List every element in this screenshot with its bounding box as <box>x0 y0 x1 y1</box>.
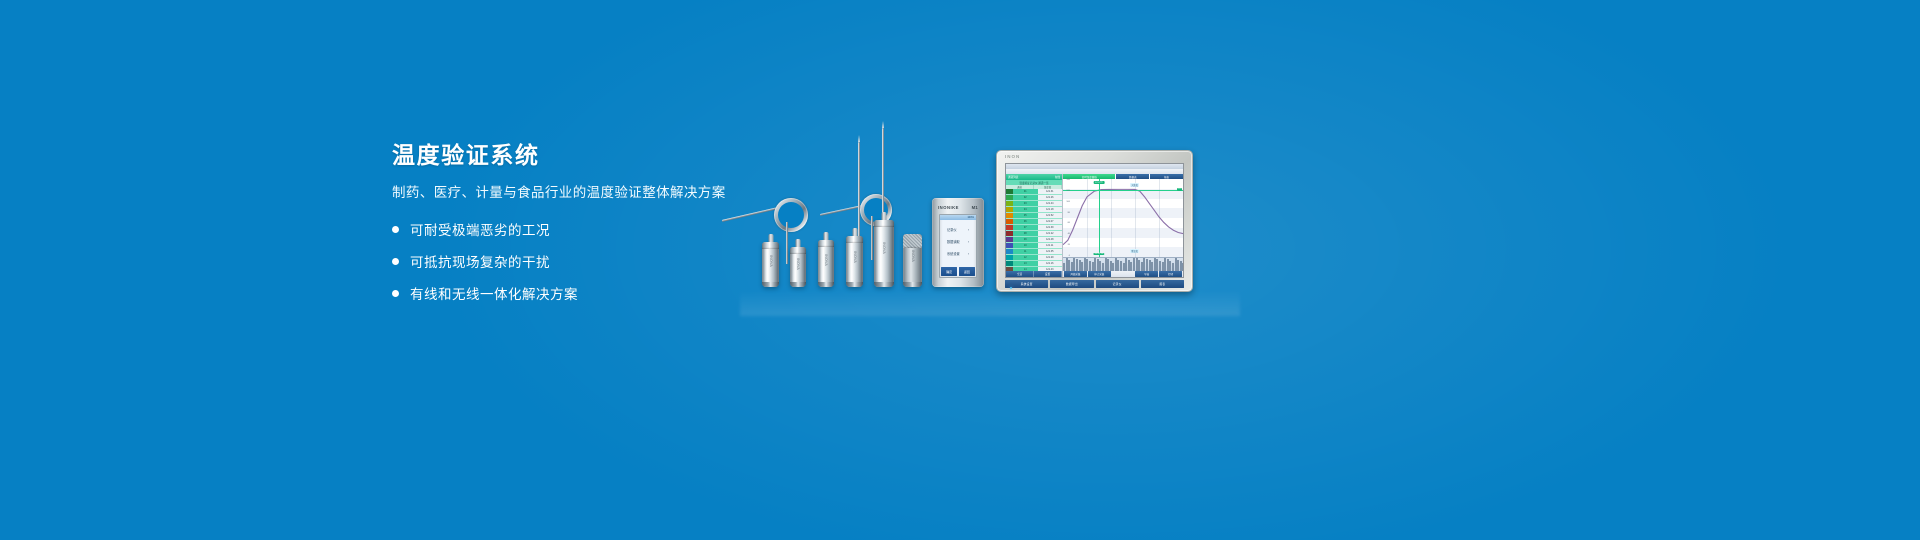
channel-id-cell: 08 <box>1013 232 1038 235</box>
channel-color-swatch <box>1006 189 1013 194</box>
channel-value-cell: 121.39 <box>1038 225 1063 230</box>
y-axis-tick: 80 <box>1068 212 1070 214</box>
channel-value-cell: 121.22 <box>1038 231 1063 236</box>
monitor-button-export[interactable]: 数据导出 <box>1050 280 1093 288</box>
logger-base <box>874 282 894 287</box>
legend-chip-cooldown: 降温段 <box>1130 249 1139 254</box>
channel-value-cell: 121.44 <box>1038 201 1063 206</box>
channel-value-cell: 121.48 <box>1038 237 1063 242</box>
logger-cap <box>790 247 806 254</box>
channel-id-cell: 10 <box>1013 244 1038 247</box>
chevron-right-icon: › <box>968 252 969 256</box>
reader-model: M1 <box>972 205 978 210</box>
bullet-dot-icon <box>392 290 399 297</box>
cursor-value-label: 121.3℃ <box>1094 181 1105 185</box>
channel-value-cell: 121.07 <box>1038 219 1063 224</box>
logger-base <box>790 282 806 287</box>
channel-color-swatch <box>1006 261 1013 266</box>
chevron-right-icon: › <box>968 228 969 232</box>
reader-battery-text: 100% <box>967 216 974 219</box>
bullet-dot-icon <box>392 258 399 265</box>
f0-limit-label: F0 <box>1177 188 1182 191</box>
y-axis-tick: 140 <box>1066 179 1070 181</box>
channel-table-rows: 01121.3102121.2603121.4404121.1805121.52… <box>1006 189 1062 271</box>
time-cursor-line[interactable] <box>1099 179 1100 257</box>
start-acquisition-button[interactable]: 开始采集 <box>1064 271 1087 277</box>
temperature-curve <box>1063 179 1183 257</box>
reader-menu-item[interactable]: 系统设置 › <box>944 251 972 256</box>
y-axis-tick: 60 <box>1068 222 1070 224</box>
validation-software-window: 通道列表 在线 温度验证记录仪 通道一览 通道 温度值 01121.310212… <box>1006 164 1183 277</box>
channel-id-cell: 03 <box>1013 202 1038 205</box>
channel-color-swatch <box>1006 213 1013 218</box>
logger-cap <box>762 242 779 249</box>
channel-color-swatch <box>1006 219 1013 224</box>
y-axis-tick: 20 <box>1068 244 1070 246</box>
reader-brand-row: INONIKE M1 <box>938 205 978 210</box>
feature-text: 可耐受极端恶劣的工况 <box>410 219 550 239</box>
data-logger: INOVA <box>874 220 894 287</box>
chevron-right-icon: › <box>968 240 969 244</box>
data-logger: INOVA <box>846 236 863 287</box>
channel-id-cell: 01 <box>1013 190 1038 193</box>
logger-base <box>762 282 779 287</box>
software-action-bar: 开始采集 停止采集 导出 打印 <box>1063 271 1183 277</box>
reader-menu-item[interactable]: 记录仪 › <box>944 227 972 232</box>
channel-value-cell: 121.16 <box>1038 261 1063 266</box>
bullet-dot-icon <box>392 226 399 233</box>
reader-confirm-button[interactable]: 确定 <box>941 267 957 276</box>
channel-panel-title: 通道列表 <box>1008 175 1018 179</box>
f0-limit-line <box>1063 190 1183 191</box>
channel-color-swatch <box>1006 195 1013 200</box>
logger-label: INOVA <box>769 255 773 267</box>
monitor-screen: 通道列表 在线 温度验证记录仪 通道一览 通道 温度值 01121.310212… <box>1005 163 1184 278</box>
channel-id-cell: 11 <box>1013 250 1038 253</box>
logger-cap <box>818 240 834 247</box>
channel-id-cell: 12 <box>1013 256 1038 259</box>
channel-color-swatch <box>1006 243 1013 248</box>
reader-softkeys: 确定 返回 <box>940 267 976 277</box>
temperature-plot: F0 121.3℃ 00:42:10 灭菌段 降温段 1401201008060… <box>1063 179 1183 257</box>
channel-id-cell: 05 <box>1013 214 1038 217</box>
channel-id-cell: 04 <box>1013 208 1038 211</box>
data-logger: INOVA <box>903 234 922 287</box>
cursor-time-label: 00:42:10 <box>1093 253 1104 256</box>
channel-value-cell: 121.29 <box>1038 255 1063 260</box>
channel-id-cell: 07 <box>1013 226 1038 229</box>
promo-banner: 温度验证系统 制药、医疗、计量与食品行业的温度验证整体解决方案 可耐受极端恶劣的… <box>0 0 1920 540</box>
reader-menu-label: 系统设置 <box>947 251 960 256</box>
feature-text: 可抵抗现场复杂的干扰 <box>410 251 550 271</box>
data-logger: INOVA <box>790 247 806 287</box>
channel-list-panel: 通道列表 在线 温度验证记录仪 通道一览 通道 温度值 01121.310212… <box>1006 174 1063 277</box>
reader-brand: INONIKE <box>938 205 959 210</box>
y-axis-tick: 40 <box>1068 233 1070 235</box>
reader-back-button[interactable]: 返回 <box>959 267 975 276</box>
reader-menu-label: 记录仪 <box>947 227 957 232</box>
channel-panel-status: 在线 <box>1055 175 1060 179</box>
y-axis-ticks: 140120100806040200 <box>1063 179 1071 257</box>
y-axis-tick: 100 <box>1066 201 1070 203</box>
logger-label: INOVA <box>882 242 886 254</box>
rigid-needle-probe <box>858 142 860 248</box>
monitor-footer-buttons: 系统设置 数据导出 记录仪 报表 <box>1005 280 1184 288</box>
export-button[interactable]: 导出 <box>1135 271 1158 277</box>
logger-cap <box>846 236 863 243</box>
legend-chip-sterilize: 灭菌段 <box>1130 183 1139 188</box>
logger-label: INOVA <box>853 251 857 263</box>
channel-value-cell: 121.31 <box>1038 189 1063 194</box>
select-all-button[interactable]: 全选 <box>1006 271 1034 277</box>
channel-color-swatch <box>1006 255 1013 260</box>
channel-color-swatch <box>1006 207 1013 212</box>
power-led-icon <box>1010 287 1012 289</box>
handheld-reader-device[interactable]: INONIKE M1 100% 记录仪 › 数据读取 › <box>932 198 984 287</box>
logger-base <box>846 282 863 287</box>
reader-menu-item[interactable]: 数据读取 › <box>944 239 972 244</box>
channel-id-cell: 09 <box>1013 238 1038 241</box>
logger-cap <box>874 220 894 227</box>
channel-id-cell: 13 <box>1013 262 1038 265</box>
logger-label: INOVA <box>824 254 828 266</box>
data-strip-tick <box>1182 263 1183 271</box>
action-bar-spacer <box>1112 271 1135 277</box>
data-scroll-strip[interactable] <box>1063 257 1183 271</box>
channel-id-cell: 06 <box>1013 220 1038 223</box>
monitor-button-logger[interactable]: 记录仪 <box>1096 280 1139 288</box>
channel-panel-footer: 全选 设置 <box>1006 271 1062 277</box>
monitor-button-report[interactable]: 报表 <box>1141 280 1184 288</box>
data-logger: INOVA <box>762 242 779 287</box>
logger-label: INOVA <box>796 258 800 270</box>
monitor-brand: INON <box>1005 154 1020 159</box>
channel-color-swatch <box>1006 249 1013 254</box>
data-logger: INOVA <box>818 240 834 287</box>
channel-color-swatch <box>1006 231 1013 236</box>
feature-text: 有线和无线一体化解决方案 <box>410 283 578 303</box>
settings-button[interactable]: 设置 <box>1034 271 1062 277</box>
logger-label: INOVA <box>911 250 915 262</box>
reader-screen: 100% 记录仪 › 数据读取 › 系统设置 › <box>939 214 977 278</box>
channel-id-cell: 02 <box>1013 196 1038 199</box>
reader-menu-label: 数据读取 <box>947 239 960 244</box>
channel-value-cell: 121.18 <box>1038 207 1063 212</box>
logger-mesh-cap <box>903 234 922 248</box>
channel-value-cell: 121.35 <box>1038 249 1063 254</box>
channel-value-cell: 121.52 <box>1038 213 1063 218</box>
software-body: 通道列表 在线 温度验证记录仪 通道一览 通道 温度值 01121.310212… <box>1006 174 1183 277</box>
panel-pc-monitor: INON 通道列表 在线 温度验证记录仪 通道一览 <box>996 150 1193 292</box>
print-button[interactable]: 打印 <box>1159 271 1182 277</box>
reader-menu: 记录仪 › 数据读取 › 系统设置 › <box>940 220 976 267</box>
channel-value-cell: 121.26 <box>1038 195 1063 200</box>
stop-acquisition-button[interactable]: 停止采集 <box>1088 271 1111 277</box>
y-axis-tick: 120 <box>1066 190 1070 192</box>
channel-value-cell: 121.11 <box>1038 243 1063 248</box>
product-group: INOVA INOVA INOVA INOVA INOVA <box>700 120 1260 320</box>
chart-panel: 实时温度曲线 数据表 报表 <box>1063 174 1183 277</box>
channel-color-swatch <box>1006 201 1013 206</box>
channel-color-swatch <box>1006 237 1013 242</box>
logger-base <box>903 282 922 287</box>
logger-base <box>818 282 834 287</box>
channel-color-swatch <box>1006 225 1013 230</box>
